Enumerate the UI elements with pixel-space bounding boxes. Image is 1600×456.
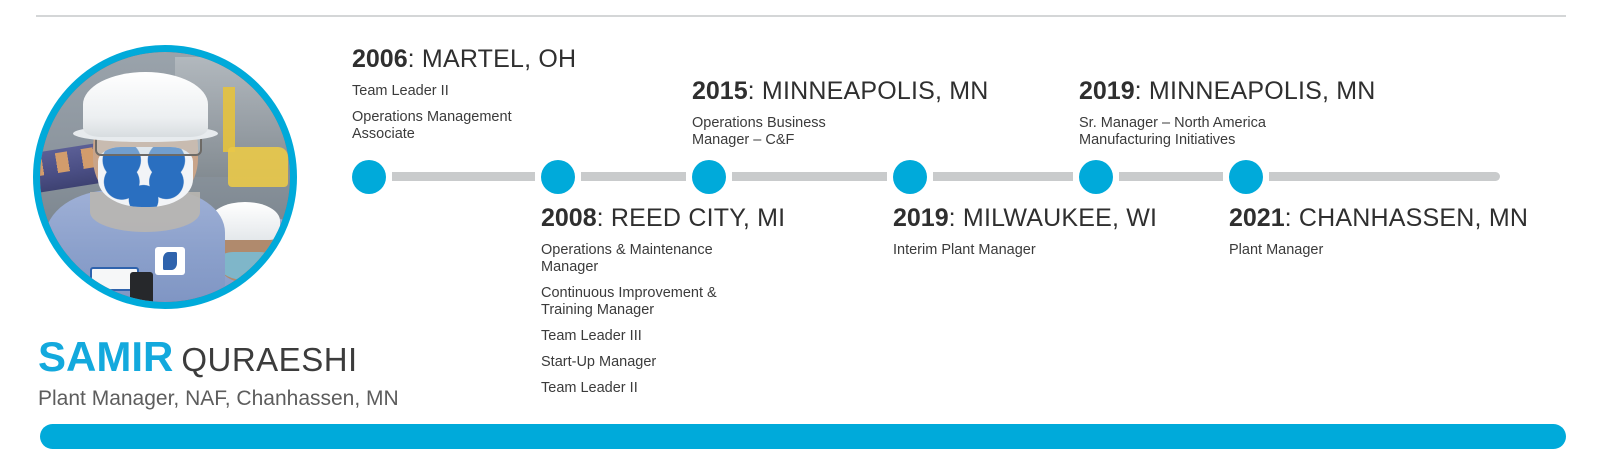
timeline-entry-roles: Interim Plant Manager <box>893 242 1157 259</box>
career-timeline-slide: SAMIRQURAESHI Plant Manager, NAF, Chanha… <box>0 0 1600 456</box>
timeline-entry-location: : MARTEL, OH <box>408 45 577 73</box>
timeline-milestone-dot[interactable] <box>352 160 386 194</box>
timeline-entry-role: Continuous Improvement & Training Manage… <box>541 285 785 319</box>
timeline-entry-title: 2006: MARTEL, OH <box>352 46 576 74</box>
timeline-entry-year: 2008 <box>541 204 597 232</box>
timeline-entry: 2006: MARTEL, OHTeam Leader IIOperations… <box>352 46 576 143</box>
timeline-entry-title: 2015: MINNEAPOLIS, MN <box>692 78 989 106</box>
career-timeline: 2006: MARTEL, OHTeam Leader IIOperations… <box>0 0 1600 456</box>
timeline-entry-role: Team Leader II <box>541 380 785 397</box>
timeline-entry-role: Team Leader II <box>352 83 576 100</box>
timeline-entry-title: 2021: CHANHASSEN, MN <box>1229 205 1528 233</box>
timeline-entry-roles: Operations Business Manager – C&F <box>692 115 989 149</box>
timeline-connector <box>732 172 887 181</box>
timeline-entry-year: 2021 <box>1229 204 1285 232</box>
timeline-entry-role: Operations & Maintenance Manager <box>541 242 785 276</box>
timeline-entry-role: Operations Management Associate <box>352 109 576 143</box>
timeline-entry-year: 2006 <box>352 45 408 73</box>
timeline-entry-location: : MINNEAPOLIS, MN <box>748 77 989 105</box>
timeline-milestone-dot[interactable] <box>893 160 927 194</box>
timeline-entry-role: Operations Business Manager – C&F <box>692 115 989 149</box>
timeline-entry-title: 2019: MILWAUKEE, WI <box>893 205 1157 233</box>
timeline-entry: 2015: MINNEAPOLIS, MNOperations Business… <box>692 78 989 149</box>
timeline-entry-location: : CHANHASSEN, MN <box>1285 204 1529 232</box>
timeline-entry: 2021: CHANHASSEN, MNPlant Manager <box>1229 205 1528 259</box>
timeline-entry-title: 2019: MINNEAPOLIS, MN <box>1079 78 1376 106</box>
timeline-entry-role: Team Leader III <box>541 328 785 345</box>
timeline-entry-roles: Plant Manager <box>1229 242 1528 259</box>
timeline-connector <box>581 172 686 181</box>
timeline-milestone-dot[interactable] <box>1229 160 1263 194</box>
timeline-entry-roles: Team Leader IIOperations Management Asso… <box>352 83 576 143</box>
timeline-entry: 2019: MINNEAPOLIS, MNSr. Manager – North… <box>1079 78 1376 149</box>
timeline-entry: 2008: REED CITY, MIOperations & Maintena… <box>541 205 785 397</box>
timeline-entry-year: 2019 <box>1079 77 1135 105</box>
timeline-entry-location: : MILWAUKEE, WI <box>949 204 1158 232</box>
timeline-entry-location: : MINNEAPOLIS, MN <box>1135 77 1376 105</box>
timeline-entry-roles: Sr. Manager – North America Manufacturin… <box>1079 115 1376 149</box>
timeline-entry-role: Plant Manager <box>1229 242 1528 259</box>
timeline-connector <box>392 172 535 181</box>
timeline-milestone-dot[interactable] <box>541 160 575 194</box>
timeline-connector-end <box>1269 172 1500 181</box>
bottom-accent-bar <box>40 424 1566 449</box>
timeline-entry-year: 2019 <box>893 204 949 232</box>
timeline-entry-title: 2008: REED CITY, MI <box>541 205 785 233</box>
timeline-entry: 2019: MILWAUKEE, WIInterim Plant Manager <box>893 205 1157 259</box>
timeline-track <box>352 172 1502 181</box>
timeline-connector <box>1119 172 1223 181</box>
timeline-connector <box>933 172 1073 181</box>
timeline-entry-year: 2015 <box>692 77 748 105</box>
timeline-milestone-dot[interactable] <box>692 160 726 194</box>
timeline-entry-role: Interim Plant Manager <box>893 242 1157 259</box>
timeline-entry-role: Start-Up Manager <box>541 354 785 371</box>
timeline-milestone-dot[interactable] <box>1079 160 1113 194</box>
timeline-entry-roles: Operations & Maintenance ManagerContinuo… <box>541 242 785 398</box>
timeline-entry-location: : REED CITY, MI <box>597 204 786 232</box>
timeline-entry-role: Sr. Manager – North America Manufacturin… <box>1079 115 1376 149</box>
